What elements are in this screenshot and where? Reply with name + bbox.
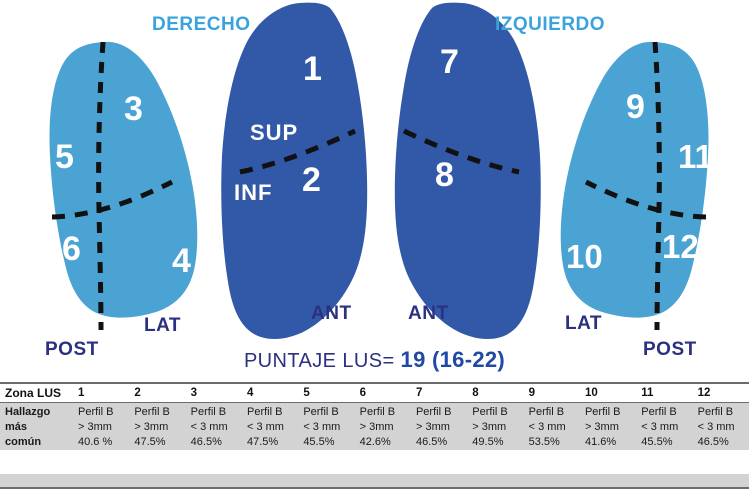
table-bottom-rule [0, 487, 749, 489]
cell-thickness: < 3 mm [529, 420, 580, 435]
cell-profile: Perfil B [303, 405, 354, 420]
zone-number-9: 9 [626, 90, 645, 124]
table-header: Zona LUS 1 2 3 4 5 6 7 8 9 10 11 12 [0, 383, 749, 403]
table-cell-zone-4: Perfil B < 3 mm 47.5% [242, 403, 298, 451]
zone-number-4: 4 [172, 244, 191, 278]
table-header-zone-1: 1 [73, 383, 129, 403]
region-label-sup: SUP [250, 120, 298, 146]
cell-thickness: > 3mm [585, 420, 636, 435]
row-label-line-3: común [5, 435, 73, 450]
zone-number-1: 1 [303, 52, 322, 86]
cell-thickness: < 3 mm [641, 420, 692, 435]
table-header-row: Zona LUS 1 2 3 4 5 6 7 8 9 10 11 12 [0, 383, 749, 403]
table-cell-zone-1: Perfil B > 3mm 40.6 % [73, 403, 129, 451]
cell-profile: Perfil B [641, 405, 692, 420]
cell-thickness: < 3 mm [698, 420, 749, 435]
region-label-inf: INF [234, 180, 272, 206]
table-cell-zone-12: Perfil B < 3 mm 46.5% [693, 403, 749, 451]
table-cell-zone-11: Perfil B < 3 mm 45.5% [636, 403, 692, 451]
table-row: Hallazgo más común Perfil B > 3mm 40.6 %… [0, 403, 749, 451]
cell-thickness: > 3mm [472, 420, 523, 435]
table-cell-zone-2: Perfil B > 3mm 47.5% [129, 403, 185, 451]
cell-profile: Perfil B [472, 405, 523, 420]
table-body: Hallazgo más común Perfil B > 3mm 40.6 %… [0, 403, 749, 451]
table-header-zone-2: 2 [129, 383, 185, 403]
zone-number-11: 11 [678, 140, 713, 173]
lus-score-value: 19 (16-22) [401, 347, 506, 372]
zone-number-2: 2 [302, 163, 321, 197]
cell-percent: 45.5% [641, 435, 692, 450]
zone-number-6: 6 [62, 232, 81, 266]
table-cell-zone-7: Perfil B > 3mm 46.5% [411, 403, 467, 451]
zone-number-12: 12 [662, 230, 699, 263]
lus-zone-table: Zona LUS 1 2 3 4 5 6 7 8 9 10 11 12 Hall… [0, 382, 749, 450]
orientation-label-ant-right: ANT [311, 303, 352, 325]
zone-number-8: 8 [435, 158, 454, 192]
lung-shape-left-lateral [561, 42, 709, 318]
lus-zone-table-container: Zona LUS 1 2 3 4 5 6 7 8 9 10 11 12 Hall… [0, 382, 749, 494]
cell-profile: Perfil B [247, 405, 298, 420]
lungs-svg [0, 0, 749, 380]
cell-thickness: < 3 mm [303, 420, 354, 435]
table-header-zone-12: 12 [693, 383, 749, 403]
table-cell-zone-5: Perfil B < 3 mm 45.5% [298, 403, 354, 451]
orientation-label-lat-left: LAT [565, 313, 602, 335]
zone-number-5: 5 [55, 140, 74, 174]
cell-profile: Perfil B [416, 405, 467, 420]
lus-score: PUNTAJE LUS=19 (16-22) [0, 347, 749, 373]
table-header-zone-5: 5 [298, 383, 354, 403]
cell-percent: 46.5% [416, 435, 467, 450]
cell-percent: 47.5% [134, 435, 185, 450]
table-cell-zone-10: Perfil B > 3mm 41.6% [580, 403, 636, 451]
orientation-label-lat-right: LAT [144, 315, 181, 337]
table-cell-zone-9: Perfil B < 3 mm 53.5% [524, 403, 580, 451]
cell-percent: 41.6% [585, 435, 636, 450]
table-cell-zone-8: Perfil B > 3mm 49.5% [467, 403, 523, 451]
orientation-label-ant-left: ANT [408, 303, 449, 325]
cell-thickness: > 3mm [416, 420, 467, 435]
cell-percent: 42.6% [360, 435, 411, 450]
cell-profile: Perfil B [529, 405, 580, 420]
table-row-label: Hallazgo más común [0, 403, 73, 451]
table-header-zone-11: 11 [636, 383, 692, 403]
zone-number-7: 7 [440, 45, 459, 79]
zone-number-10: 10 [566, 240, 603, 273]
table-header-zone-10: 10 [580, 383, 636, 403]
cell-percent: 46.5% [698, 435, 749, 450]
table-header-zone-4: 4 [242, 383, 298, 403]
cell-percent: 45.5% [303, 435, 354, 450]
cell-thickness: > 3mm [360, 420, 411, 435]
cell-profile: Perfil B [698, 405, 749, 420]
cell-thickness: > 3mm [134, 420, 185, 435]
cell-thickness: > 3mm [78, 420, 129, 435]
table-header-zone-9: 9 [524, 383, 580, 403]
cell-profile: Perfil B [134, 405, 185, 420]
label-left-side: IZQUIERDO [495, 14, 605, 36]
cell-percent: 40.6 % [78, 435, 129, 450]
zone-number-3: 3 [124, 92, 143, 126]
cell-thickness: < 3 mm [191, 420, 242, 435]
cell-profile: Perfil B [78, 405, 129, 420]
cell-percent: 47.5% [247, 435, 298, 450]
row-label-line-1: Hallazgo [5, 405, 73, 420]
lus-score-label: PUNTAJE LUS= [244, 350, 395, 372]
cell-percent: 49.5% [472, 435, 523, 450]
cell-profile: Perfil B [191, 405, 242, 420]
table-header-zona-lus: Zona LUS [0, 383, 73, 403]
table-header-zone-6: 6 [355, 383, 411, 403]
table-cell-zone-3: Perfil B < 3 mm 46.5% [186, 403, 242, 451]
table-header-zone-8: 8 [467, 383, 523, 403]
table-header-zone-7: 7 [411, 383, 467, 403]
cell-thickness: < 3 mm [247, 420, 298, 435]
table-cell-zone-6: Perfil B > 3mm 42.6% [355, 403, 411, 451]
lung-zones-diagram: DERECHO IZQUIERDO POST LAT ANT ANT LAT P… [0, 0, 749, 380]
label-right-side: DERECHO [152, 14, 251, 36]
row-label-line-2: más [5, 420, 73, 435]
cell-percent: 46.5% [191, 435, 242, 450]
cell-percent: 53.5% [529, 435, 580, 450]
cell-profile: Perfil B [585, 405, 636, 420]
cell-profile: Perfil B [360, 405, 411, 420]
table-header-zone-3: 3 [186, 383, 242, 403]
